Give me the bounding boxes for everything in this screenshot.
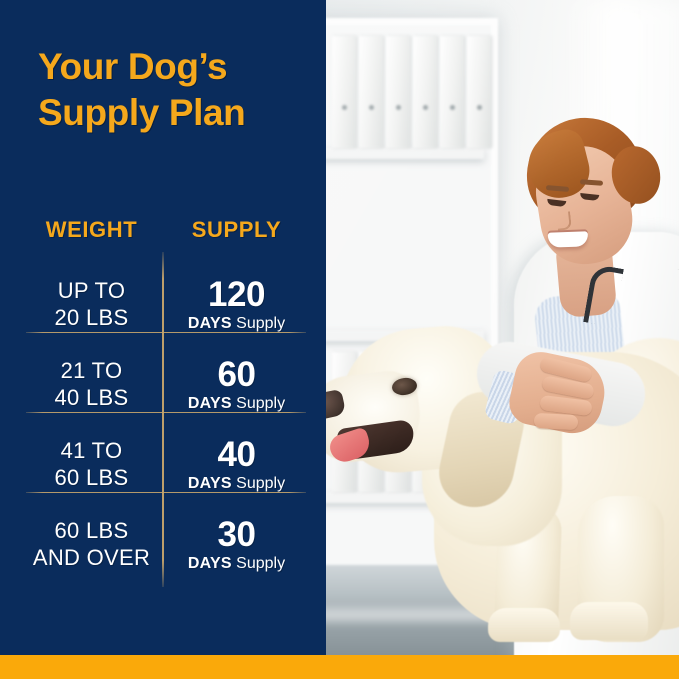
left-navy-panel: Your Dog’s Supply Plan WEIGHT SUPPLY UP … — [0, 0, 326, 655]
supply-days-word: DAYS — [188, 395, 232, 412]
binder — [386, 36, 410, 148]
cell-supply: 40 DAYS Supply — [163, 437, 310, 494]
binder — [332, 36, 356, 148]
cell-weight: 41 TO 60 LBS — [20, 438, 163, 492]
weight-line-1: 41 TO — [20, 438, 163, 465]
table-header-row: WEIGHT SUPPLY — [20, 208, 310, 252]
page-title: Your Dog’s Supply Plan — [38, 44, 308, 135]
dog-paw — [570, 602, 648, 640]
supply-days-word: DAYS — [188, 555, 232, 572]
row-divider — [26, 332, 306, 333]
page-title-line-2: Supply Plan — [38, 90, 308, 136]
supply-days-word: DAYS — [188, 475, 232, 492]
weight-line-2: 40 LBS — [20, 385, 163, 412]
column-header-supply: SUPPLY — [163, 217, 310, 243]
binder — [467, 36, 491, 148]
weight-line-2: AND OVER — [20, 545, 163, 572]
supply-word: Supply — [236, 395, 285, 412]
supply-days-label: DAYS Supply — [163, 394, 310, 413]
cell-weight: UP TO 20 LBS — [20, 278, 163, 332]
supply-word: Supply — [236, 475, 285, 492]
binder — [359, 36, 383, 148]
cell-supply: 30 DAYS Supply — [163, 517, 310, 574]
cell-supply: 60 DAYS Supply — [163, 357, 310, 414]
cell-weight: 60 LBS AND OVER — [20, 518, 163, 572]
supply-word: Supply — [236, 555, 285, 572]
vet-and-dog-illustration — [326, 0, 679, 655]
supply-days-number: 60 — [163, 357, 310, 394]
shelf — [326, 148, 484, 159]
cell-supply: 120 DAYS Supply — [163, 277, 310, 334]
weight-line-1: 60 LBS — [20, 518, 163, 545]
page-title-line-1: Your Dog’s — [38, 44, 308, 90]
row-divider — [26, 492, 306, 493]
infographic-canvas: Your Dog’s Supply Plan WEIGHT SUPPLY UP … — [0, 0, 679, 679]
vet-photo-panel — [326, 0, 679, 655]
column-header-weight: WEIGHT — [20, 217, 163, 243]
supply-word: Supply — [236, 315, 285, 332]
supply-days-label: DAYS Supply — [163, 554, 310, 573]
binder — [440, 36, 464, 148]
weight-line-1: 21 TO — [20, 358, 163, 385]
cell-weight: 21 TO 40 LBS — [20, 358, 163, 412]
row-divider — [26, 412, 306, 413]
binder-row — [332, 36, 491, 148]
supply-days-number: 40 — [163, 437, 310, 474]
dog-paw — [488, 608, 560, 642]
bottom-accent-bar — [0, 655, 679, 679]
supply-days-number: 30 — [163, 517, 310, 554]
weight-line-2: 60 LBS — [20, 465, 163, 492]
weight-line-2: 20 LBS — [20, 305, 163, 332]
vet-finger — [534, 413, 579, 430]
supply-days-number: 120 — [163, 277, 310, 314]
supply-days-label: DAYS Supply — [163, 314, 310, 333]
supply-days-word: DAYS — [188, 315, 232, 332]
supply-table: WEIGHT SUPPLY UP TO 20 LBS 120 DAYS Supp… — [20, 208, 310, 585]
supply-days-label: DAYS Supply — [163, 474, 310, 493]
weight-line-1: UP TO — [20, 278, 163, 305]
binder — [413, 36, 437, 148]
table-body: UP TO 20 LBS 120 DAYS Supply 21 TO 40 LB… — [20, 252, 310, 585]
table-row: 60 LBS AND OVER 30 DAYS Supply — [20, 505, 310, 585]
column-divider — [162, 252, 164, 587]
